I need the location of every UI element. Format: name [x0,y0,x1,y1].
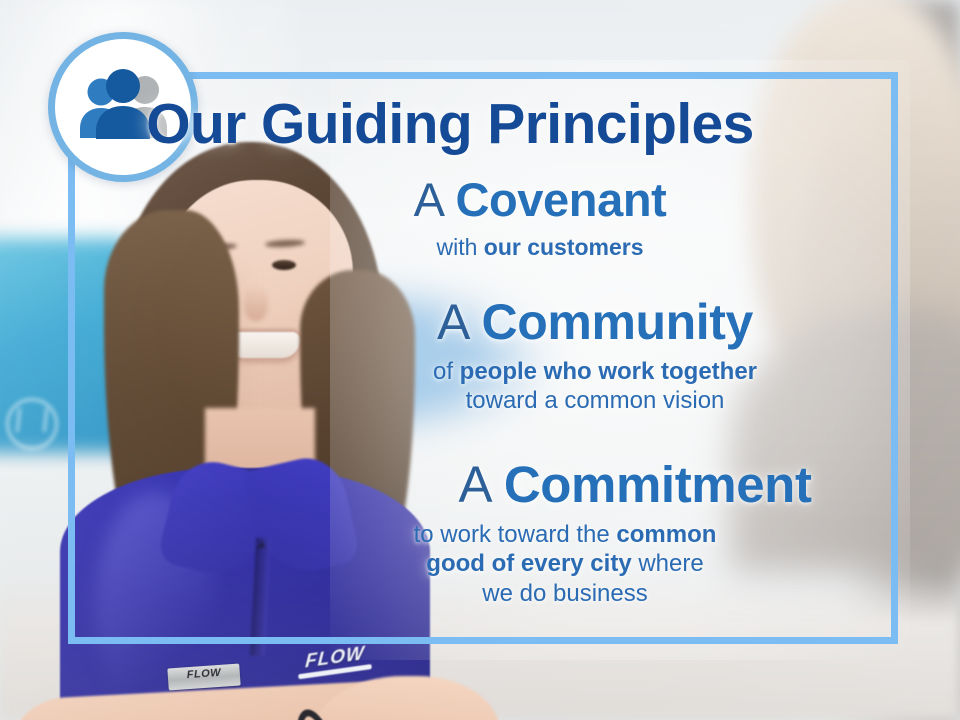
plain-text: we do business [482,580,647,607]
principle-covenant: A Covenant with our customers [90,176,960,261]
plain-text: where [632,550,704,577]
plain-text: to work toward the [414,521,617,548]
plain-text: toward a common vision [466,387,725,414]
principle-subtext-line: good of every city where [185,549,945,578]
principle-community: A Community of people who work togethert… [145,296,960,416]
emphasis-text: good of every city [426,550,631,577]
principle-subtext-line: with our customers [90,233,960,261]
principle-article: A [414,173,456,226]
emphasis-text: common [616,521,716,548]
principle-commitment-heading: A Commitment [185,458,960,511]
principle-community-heading: A Community [145,296,960,348]
page-title: Our Guiding Principles [0,96,900,153]
principle-keyword: Commitment [504,456,812,513]
principle-keyword: Covenant [455,173,666,226]
principle-subtext-line: of people who work together [145,357,960,386]
emphasis-text: people who work together [460,358,757,385]
principle-commitment: A Commitment to work toward the commongo… [185,458,960,608]
principle-article: A [437,294,481,350]
employee-eye-right [272,260,296,270]
principle-subtext-line: we do business [185,579,945,608]
principle-covenant-heading: A Covenant [90,176,960,225]
principle-subtext-line: toward a common vision [145,386,960,415]
plain-text: with [436,234,483,260]
principle-keyword: Community [482,294,753,350]
principle-community-subtext: of people who work togethertoward a comm… [145,357,960,416]
plain-text: of [433,358,460,385]
principle-subtext-line: to work toward the common [185,520,945,549]
principle-covenant-subtext: with our customers [90,233,960,261]
poster-canvas: FLOW FLOW Our Guiding Prin [0,0,960,720]
principle-commitment-subtext: to work toward the commongood of every c… [185,520,945,608]
emphasis-text: our customers [484,234,644,260]
principle-article: A [458,456,503,513]
